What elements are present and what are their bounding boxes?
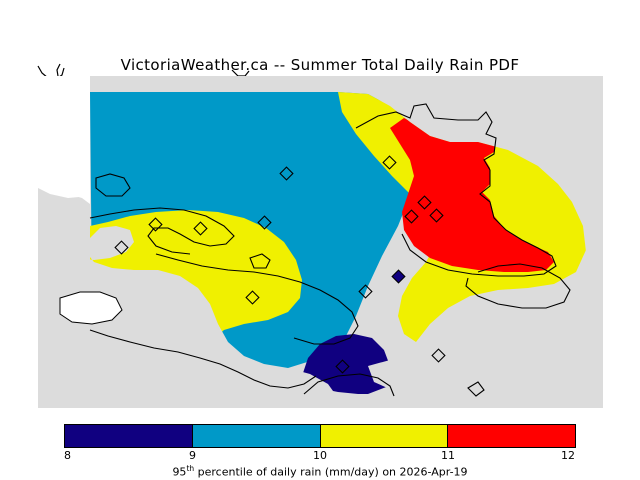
- colorbar-strip[interactable]: [64, 424, 576, 448]
- page-title: VictoriaWeather.ca -- Summer Total Daily…: [0, 56, 640, 74]
- colorbar-tick-3: 11: [441, 449, 455, 462]
- colorbar-ticks: 8 9 10 11 12: [64, 449, 576, 463]
- map-panel[interactable]: [38, 76, 603, 408]
- colorbar-tick-1: 9: [189, 449, 196, 462]
- colorbar-caption-rest: percentile of daily rain (mm/day) on 202…: [194, 466, 467, 479]
- colorbar-tick-0: 8: [64, 449, 71, 462]
- colorbar-caption-ordinal: th: [186, 464, 194, 473]
- colorbar: 8 9 10 11 12 95th percentile of daily ra…: [64, 424, 576, 480]
- colorbar-tick-4: 12: [561, 449, 575, 462]
- colorbar-segment-11-12: [447, 425, 575, 447]
- rainfall-contour-map[interactable]: [38, 76, 603, 408]
- colorbar-segment-8-9: [65, 425, 192, 447]
- lake-west: [60, 292, 122, 324]
- colorbar-segment-9-10: [192, 425, 320, 447]
- colorbar-caption-prefix: 95: [172, 466, 186, 479]
- colorbar-segment-10-11: [320, 425, 448, 447]
- colorbar-tick-2: 10: [313, 449, 327, 462]
- outside-domain-corner: [38, 76, 90, 204]
- colorbar-caption: 95th percentile of daily rain (mm/day) o…: [64, 464, 576, 479]
- weather-map-page: VictoriaWeather.ca -- Summer Total Daily…: [0, 0, 640, 480]
